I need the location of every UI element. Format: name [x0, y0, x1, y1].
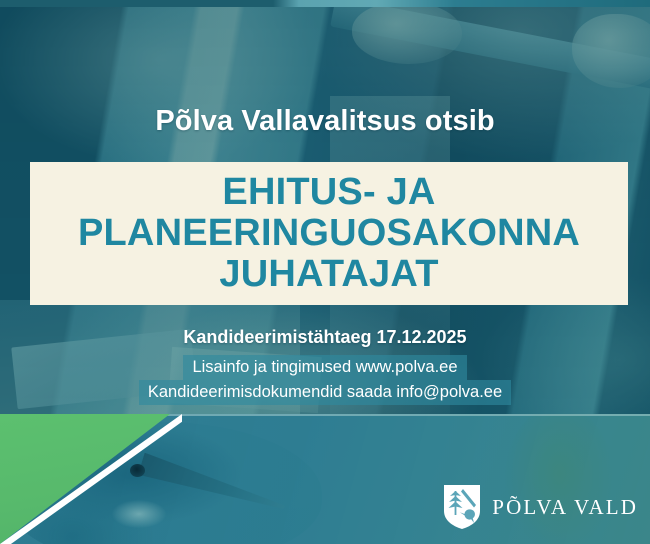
coat-of-arms-shield-icon — [443, 484, 481, 530]
logo-wordmark: PÕLVA VALD — [492, 495, 638, 520]
contact-line-website: Lisainfo ja tingimused www.polva.ee — [183, 355, 466, 380]
application-deadline: Kandideerimistähtaeg 17.12.2025 — [0, 327, 650, 348]
contact-info-block: Lisainfo ja tingimused www.polva.ee Kand… — [0, 355, 650, 405]
job-title-card: EHITUS- JA PLANEERINGUOSAKONNA JUHATAJAT — [30, 162, 628, 305]
job-advert-poster: Põlva Vallavalitsus otsib EHITUS- JA PLA… — [0, 0, 650, 544]
poster-kicker: Põlva Vallavalitsus otsib — [0, 105, 650, 138]
job-title-line-2: PLANEERINGUOSAKONNA — [78, 213, 580, 254]
job-title-line-1: EHITUS- JA — [222, 172, 435, 213]
job-title-line-3: JUHATAJAT — [219, 254, 438, 295]
contact-line-email: Kandideerimisdokumendid saada info@polva… — [139, 380, 511, 405]
polva-vald-logo: PÕLVA VALD — [443, 484, 638, 530]
photo-top-band — [0, 0, 650, 7]
